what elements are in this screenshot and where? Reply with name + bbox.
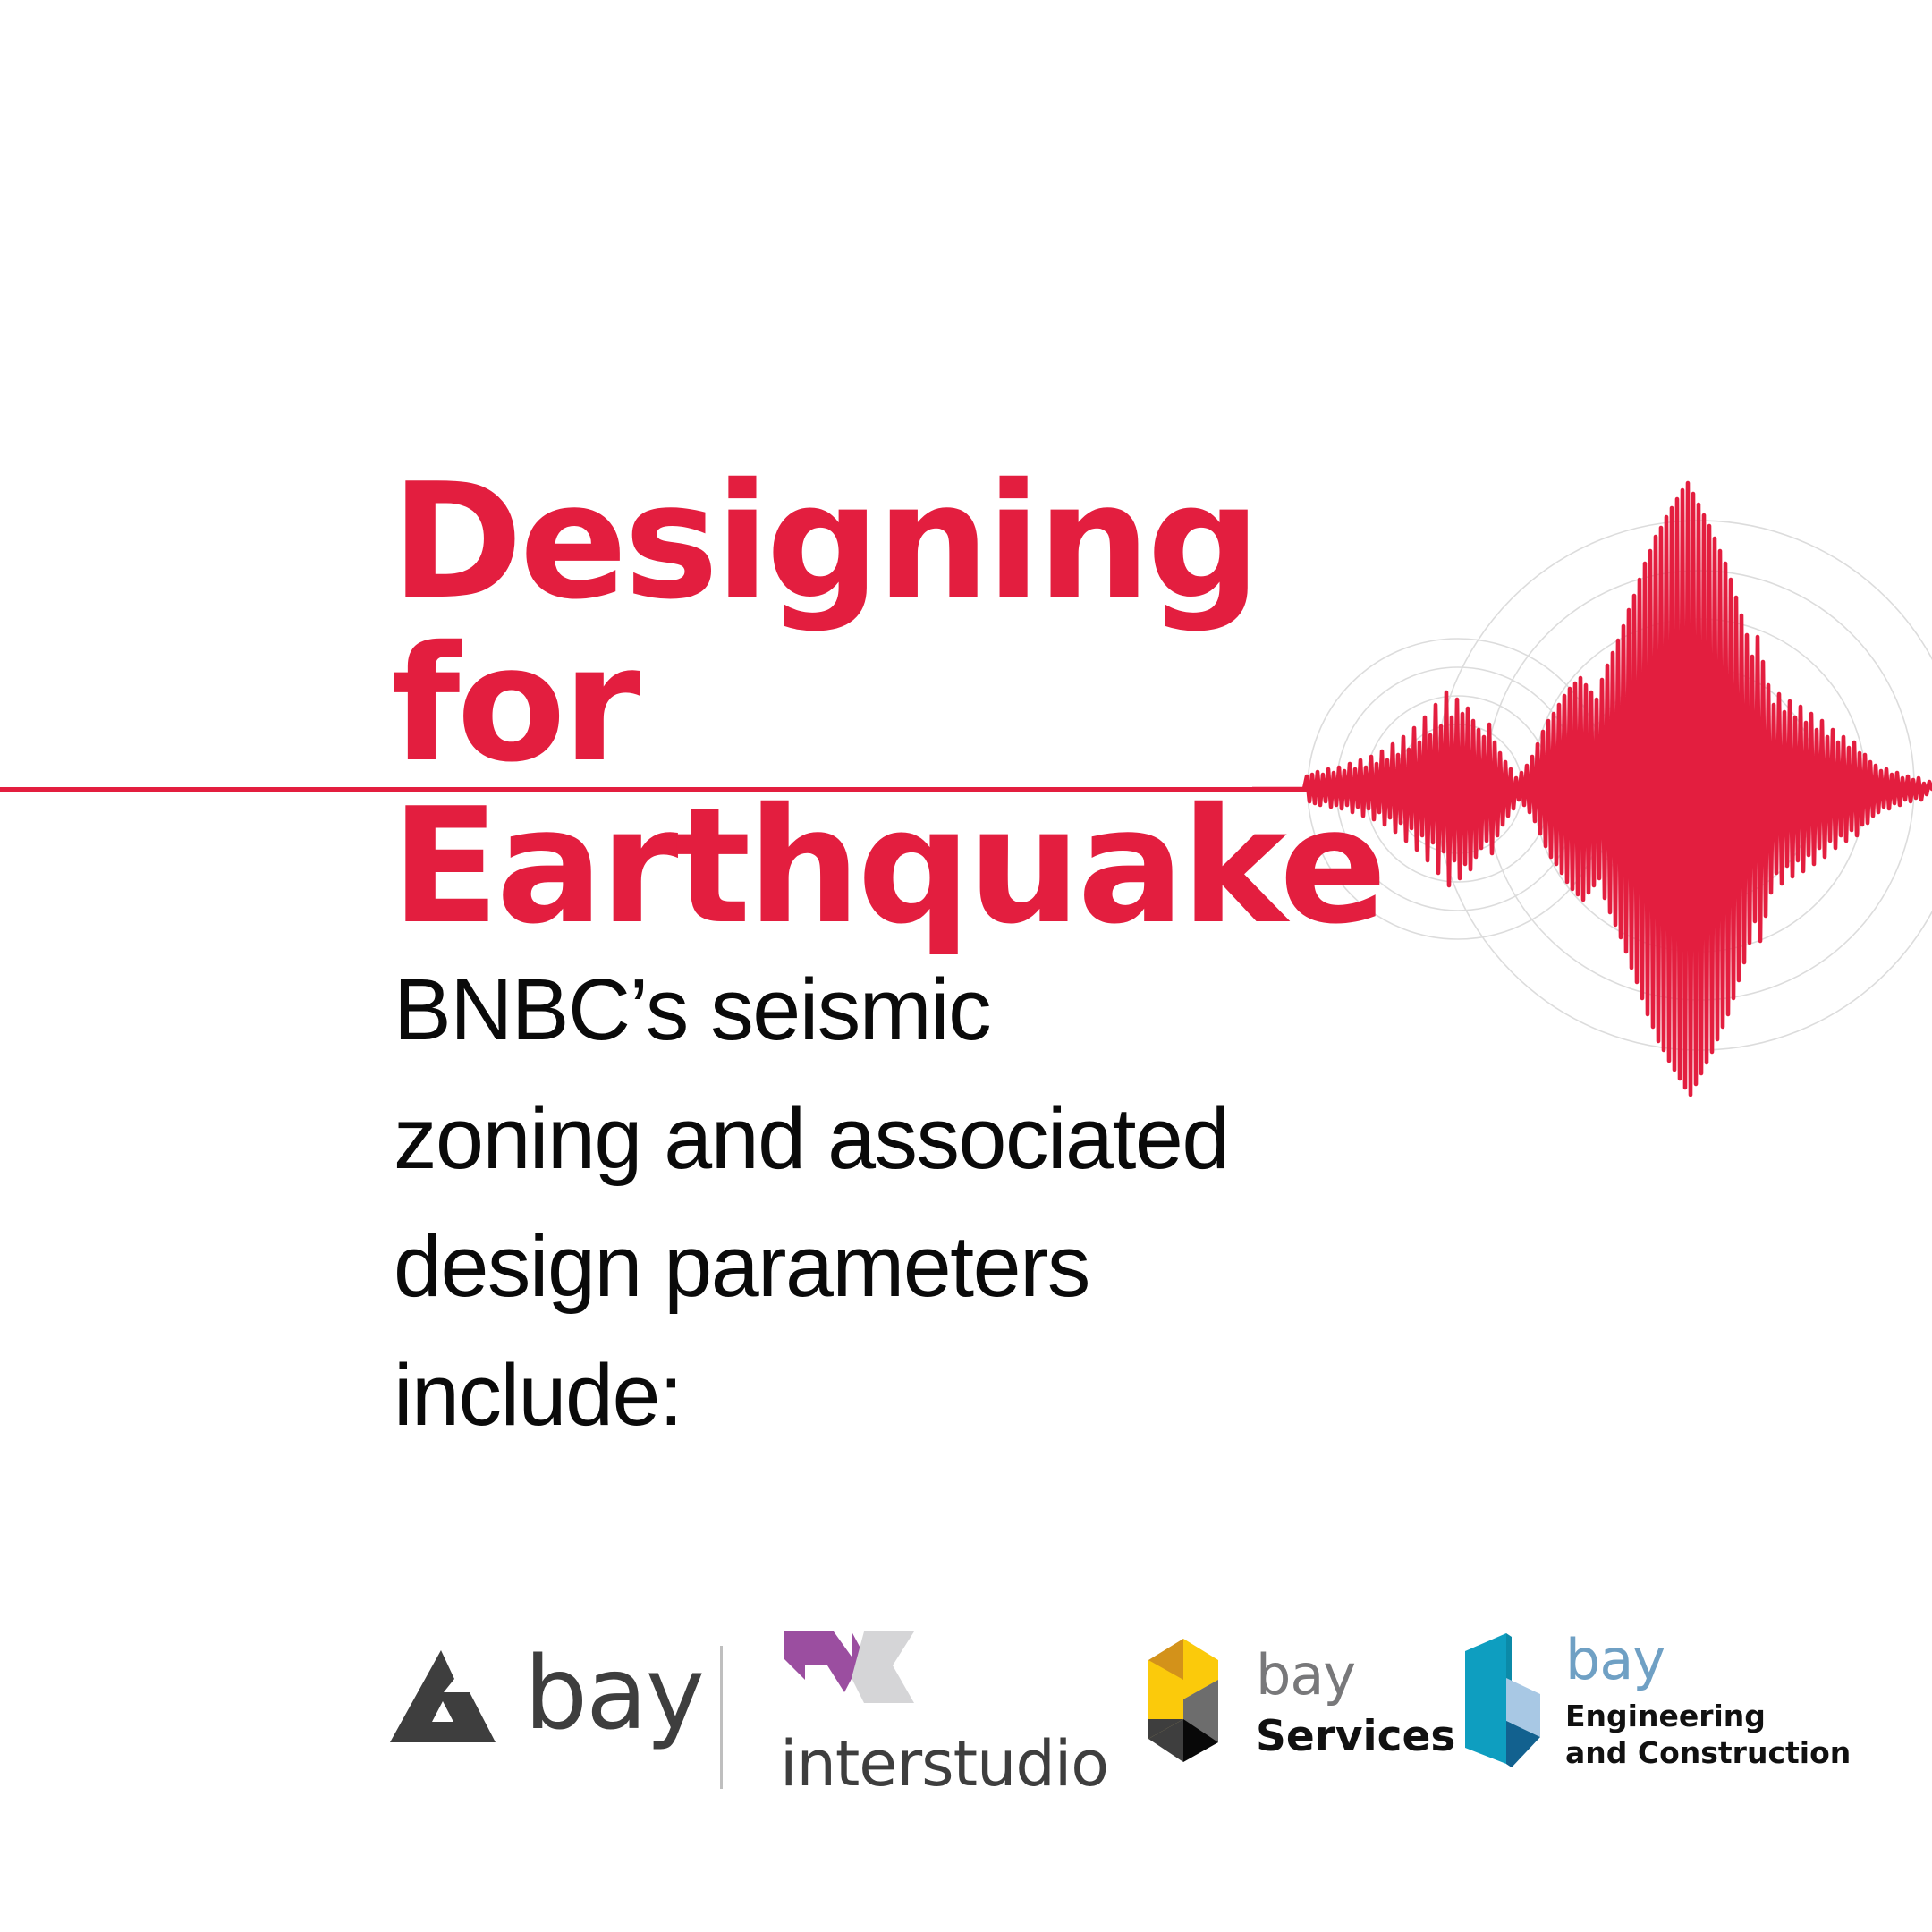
interstudio-chevron-mark-icon (778, 1628, 948, 1722)
logo-bay-wordmark: bay (524, 1644, 703, 1744)
logo-bay-engineering[interactable]: bay Engineering and Construction (1456, 1628, 1851, 1775)
logo-interstudio-wordmark: interstudio (780, 1733, 1108, 1795)
bay-engineering-b-mark-icon (1456, 1628, 1549, 1775)
bay-services-hexagon-mark-icon (1129, 1635, 1238, 1770)
logo-interstudio[interactable]: interstudio (778, 1628, 1108, 1795)
body-copy: BNBC’s seismic zoning and associated des… (394, 945, 1342, 1459)
logo-bay-engineering-wordmark: bay (1565, 1632, 1851, 1688)
poster-canvas: Designing for Earthquake BNBC’s seismic … (0, 0, 1932, 1932)
logo-bay-engineering-tagline: Engineering and Construction (1565, 1699, 1851, 1771)
logo-bay[interactable]: bay (385, 1637, 703, 1758)
logo-strip: bay interstudio (0, 1628, 1932, 1825)
bay-triangle-mark-icon (385, 1637, 501, 1758)
logo-bay-services-tagline: Services (1256, 1716, 1455, 1758)
page-title: Designing for Earthquake (391, 461, 1428, 948)
logo-bay-services-wordmark: bay (1256, 1648, 1455, 1703)
logo-bay-services-text: bay Services (1256, 1648, 1455, 1758)
logo-bay-services[interactable]: bay Services (1129, 1635, 1455, 1770)
logo-bay-engineering-text: bay Engineering and Construction (1565, 1632, 1851, 1771)
logo-divider (720, 1646, 723, 1789)
